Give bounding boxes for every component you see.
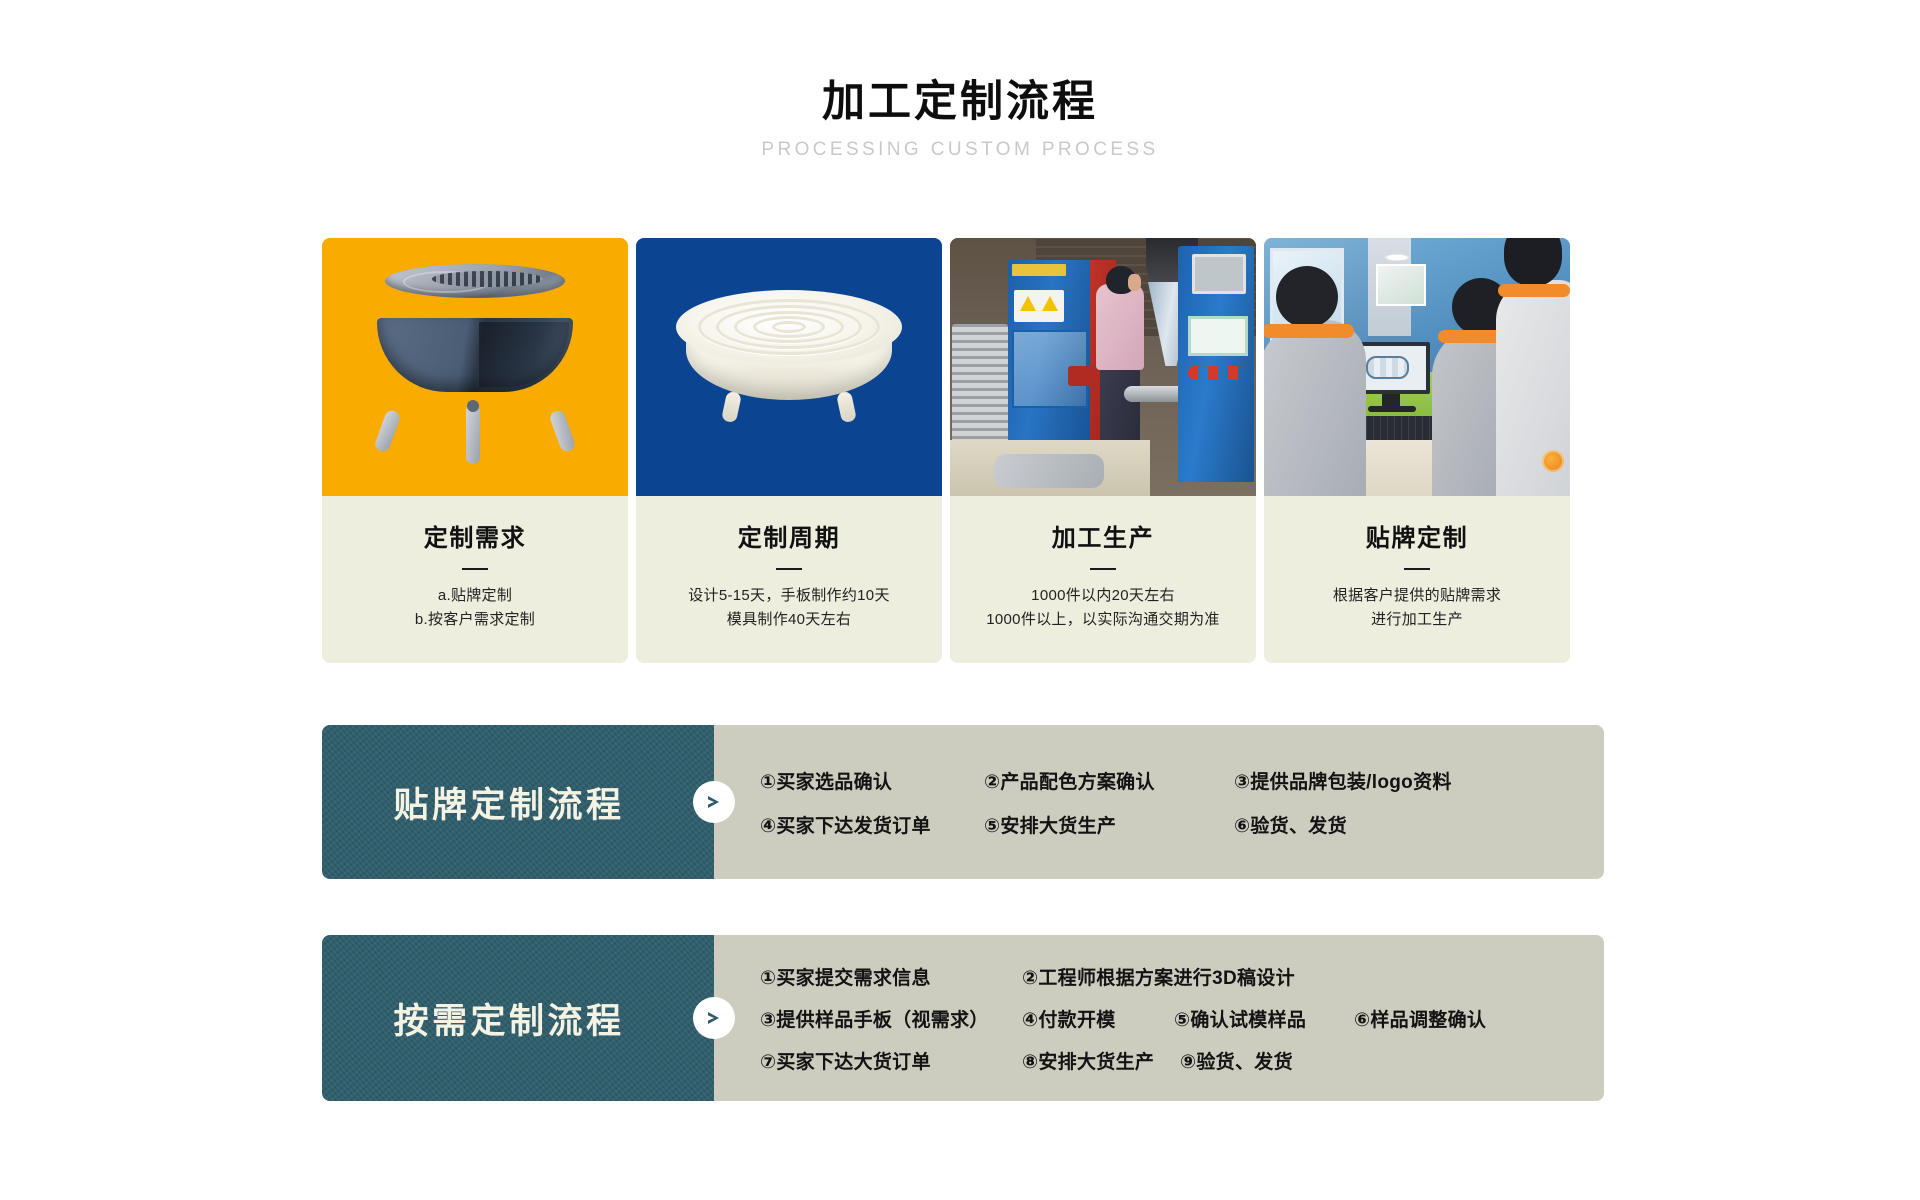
- process-step: ①买家选品确认: [760, 767, 984, 794]
- process-step: ⑥样品调整确认: [1354, 1005, 1486, 1032]
- control-buttons-shape: [1188, 366, 1246, 380]
- engineer-right-collar-shape: [1498, 284, 1570, 297]
- monitor-base-shape: [1368, 406, 1416, 412]
- card-title: 定制需求: [336, 518, 614, 553]
- process-card-oem-customization[interactable]: 贴牌定制 根据客户提供的贴牌需求 进行加工生产: [1264, 238, 1570, 663]
- page-title: 加工定制流程: [0, 78, 1920, 127]
- card-desc-line-2: 1000件以上，以实际沟通交期为准: [964, 608, 1242, 632]
- process-step: ③提供品牌包装/logo资料: [1234, 767, 1452, 794]
- process-step: ⑧安排大货生产: [1022, 1047, 1180, 1074]
- process-row: ①买家选品确认 ②产品配色方案确认 ③提供品牌包装/logo资料: [760, 758, 1604, 802]
- prototype-shape: [676, 290, 902, 410]
- card-title: 贴牌定制: [1278, 518, 1556, 553]
- ondemand-process-banner: 按需定制流程 ①买家提交需求信息 ②工程师根据方案进行3D稿设计 ③提供样品手板…: [322, 935, 1604, 1101]
- process-row: ④买家下达发货订单 ⑤安排大货生产 ⑥验货、发货: [760, 802, 1604, 846]
- grill-leg-left-shape: [373, 409, 401, 454]
- control-screen-lower-shape: [1188, 316, 1248, 356]
- engineer-right-head-shape: [1504, 238, 1562, 286]
- card-divider: [1090, 568, 1116, 570]
- chevron-right-icon: [693, 781, 735, 823]
- page-header: 加工定制流程 PROCESSING CUSTOM PROCESS: [0, 0, 1920, 161]
- card-desc-line-1: 根据客户提供的贴牌需求: [1278, 584, 1556, 608]
- card-divider: [462, 568, 488, 570]
- card-body: 加工生产 1000件以内20天左右 1000件以上，以实际沟通交期为准: [950, 496, 1256, 663]
- prototype-foot-left-shape: [721, 391, 742, 423]
- card-desc-line-1: 设计5-15天，手板制作约10天: [650, 584, 928, 608]
- ondemand-process-steps: ①买家提交需求信息 ②工程师根据方案进行3D稿设计 ③提供样品手板（视需求） ④…: [714, 935, 1604, 1101]
- banner-label-text: 贴牌定制流程: [393, 777, 642, 828]
- card-divider: [1404, 568, 1430, 570]
- process-row: ①买家提交需求信息 ②工程师根据方案进行3D稿设计: [760, 955, 1604, 997]
- process-step: ⑦买家下达大货订单: [760, 1047, 1022, 1074]
- process-row: ⑦买家下达大货订单 ⑧安排大货生产 ⑨验货、发货: [760, 1039, 1604, 1081]
- chevron-right-icon: [693, 997, 735, 1039]
- control-screen-upper-shape: [1192, 254, 1246, 294]
- warning-sign-card-shape: [1014, 290, 1064, 322]
- oem-process-banner-label: 贴牌定制流程: [322, 725, 714, 879]
- card-divider: [776, 568, 802, 570]
- process-card-custom-cycle[interactable]: 定制周期 设计5-15天，手板制作约10天 模具制作40天左右: [636, 238, 942, 663]
- engineer-left-collar-shape: [1264, 324, 1354, 338]
- molded-part-shape: [994, 454, 1104, 488]
- grill-leg-center-shape: [466, 404, 480, 464]
- process-card-custom-requirement[interactable]: 定制需求 a.贴牌定制 b.按客户需求定制: [322, 238, 628, 663]
- process-step: ⑤确认试模样品: [1174, 1005, 1354, 1032]
- card-body: 贴牌定制 根据客户提供的贴牌需求 进行加工生产: [1264, 496, 1570, 663]
- worker-face-shape: [1128, 274, 1141, 291]
- card-title: 加工生产: [964, 518, 1242, 553]
- card-desc-line-1: 1000件以内20天左右: [964, 584, 1242, 608]
- oem-process-banner: 贴牌定制流程 ①买家选品确认 ②产品配色方案确认 ③提供品牌包装/logo资料 …: [322, 725, 1604, 879]
- process-step: ③提供样品手板（视需求）: [760, 1005, 1022, 1032]
- machine-label-shape: [1012, 264, 1066, 276]
- photo-watermark: [1482, 442, 1564, 480]
- card-desc-line-1: a.贴牌定制: [336, 584, 614, 608]
- prototype-rings-shape: [676, 290, 902, 364]
- oem-process-steps: ①买家选品确认 ②产品配色方案确认 ③提供品牌包装/logo资料 ④买家下达发货…: [714, 725, 1604, 879]
- worker-body-shape: [1096, 284, 1144, 370]
- process-step: ④付款开模: [1022, 1005, 1174, 1032]
- card-title: 定制周期: [650, 518, 928, 553]
- engineer-left-shape: [1264, 320, 1366, 496]
- process-step: ②工程师根据方案进行3D稿设计: [1022, 963, 1295, 990]
- wall-poster-shape: [1376, 264, 1426, 306]
- process-step: ⑥验货、发货: [1234, 811, 1347, 838]
- processing-custom-process-page: 加工定制流程 PROCESSING CUSTOM PROCESS 定制需求 a.…: [0, 0, 1920, 1200]
- page-subtitle: PROCESSING CUSTOM PROCESS: [0, 139, 1920, 161]
- factory-machine-image: [950, 238, 1256, 496]
- ondemand-process-banner-label: 按需定制流程: [322, 935, 714, 1101]
- process-step: ①买家提交需求信息: [760, 963, 1022, 990]
- process-step: ⑨验货、发货: [1180, 1047, 1293, 1074]
- monitor-screen-shape: [1356, 346, 1426, 390]
- process-card-manufacturing[interactable]: 加工生产 1000件以内20天左右 1000件以上，以实际沟通交期为准: [950, 238, 1256, 663]
- card-desc-line-2: b.按客户需求定制: [336, 608, 614, 632]
- process-step: ⑤安排大货生产: [984, 811, 1234, 838]
- card-body: 定制需求 a.贴牌定制 b.按客户需求定制: [322, 496, 628, 663]
- card-desc-line-2: 进行加工生产: [1278, 608, 1556, 632]
- grill-lid-shape: [385, 264, 565, 298]
- grill-bowl-shape: [377, 318, 573, 392]
- prototype-foot-right-shape: [836, 391, 857, 423]
- product-exploded-render-image: [322, 238, 628, 496]
- process-step: ④买家下达发货订单: [760, 811, 984, 838]
- white-prototype-image: [636, 238, 942, 496]
- engineer-left-head-shape: [1276, 266, 1338, 328]
- card-desc-line-2: 模具制作40天左右: [650, 608, 928, 632]
- process-card-list: 定制需求 a.贴牌定制 b.按客户需求定制 定制周期: [322, 238, 1570, 663]
- cad-drawing-shape: [1366, 356, 1409, 379]
- process-row: ③提供样品手板（视需求） ④付款开模 ⑤确认试模样品 ⑥样品调整确认: [760, 997, 1604, 1039]
- grill-leg-right-shape: [548, 409, 576, 454]
- banner-label-text: 按需定制流程: [393, 993, 642, 1044]
- company-logo-icon: [1542, 450, 1564, 472]
- card-body: 定制周期 设计5-15天，手板制作约10天 模具制作40天左右: [636, 496, 942, 663]
- office-engineers-image: [1264, 238, 1570, 496]
- process-step: ②产品配色方案确认: [984, 767, 1234, 794]
